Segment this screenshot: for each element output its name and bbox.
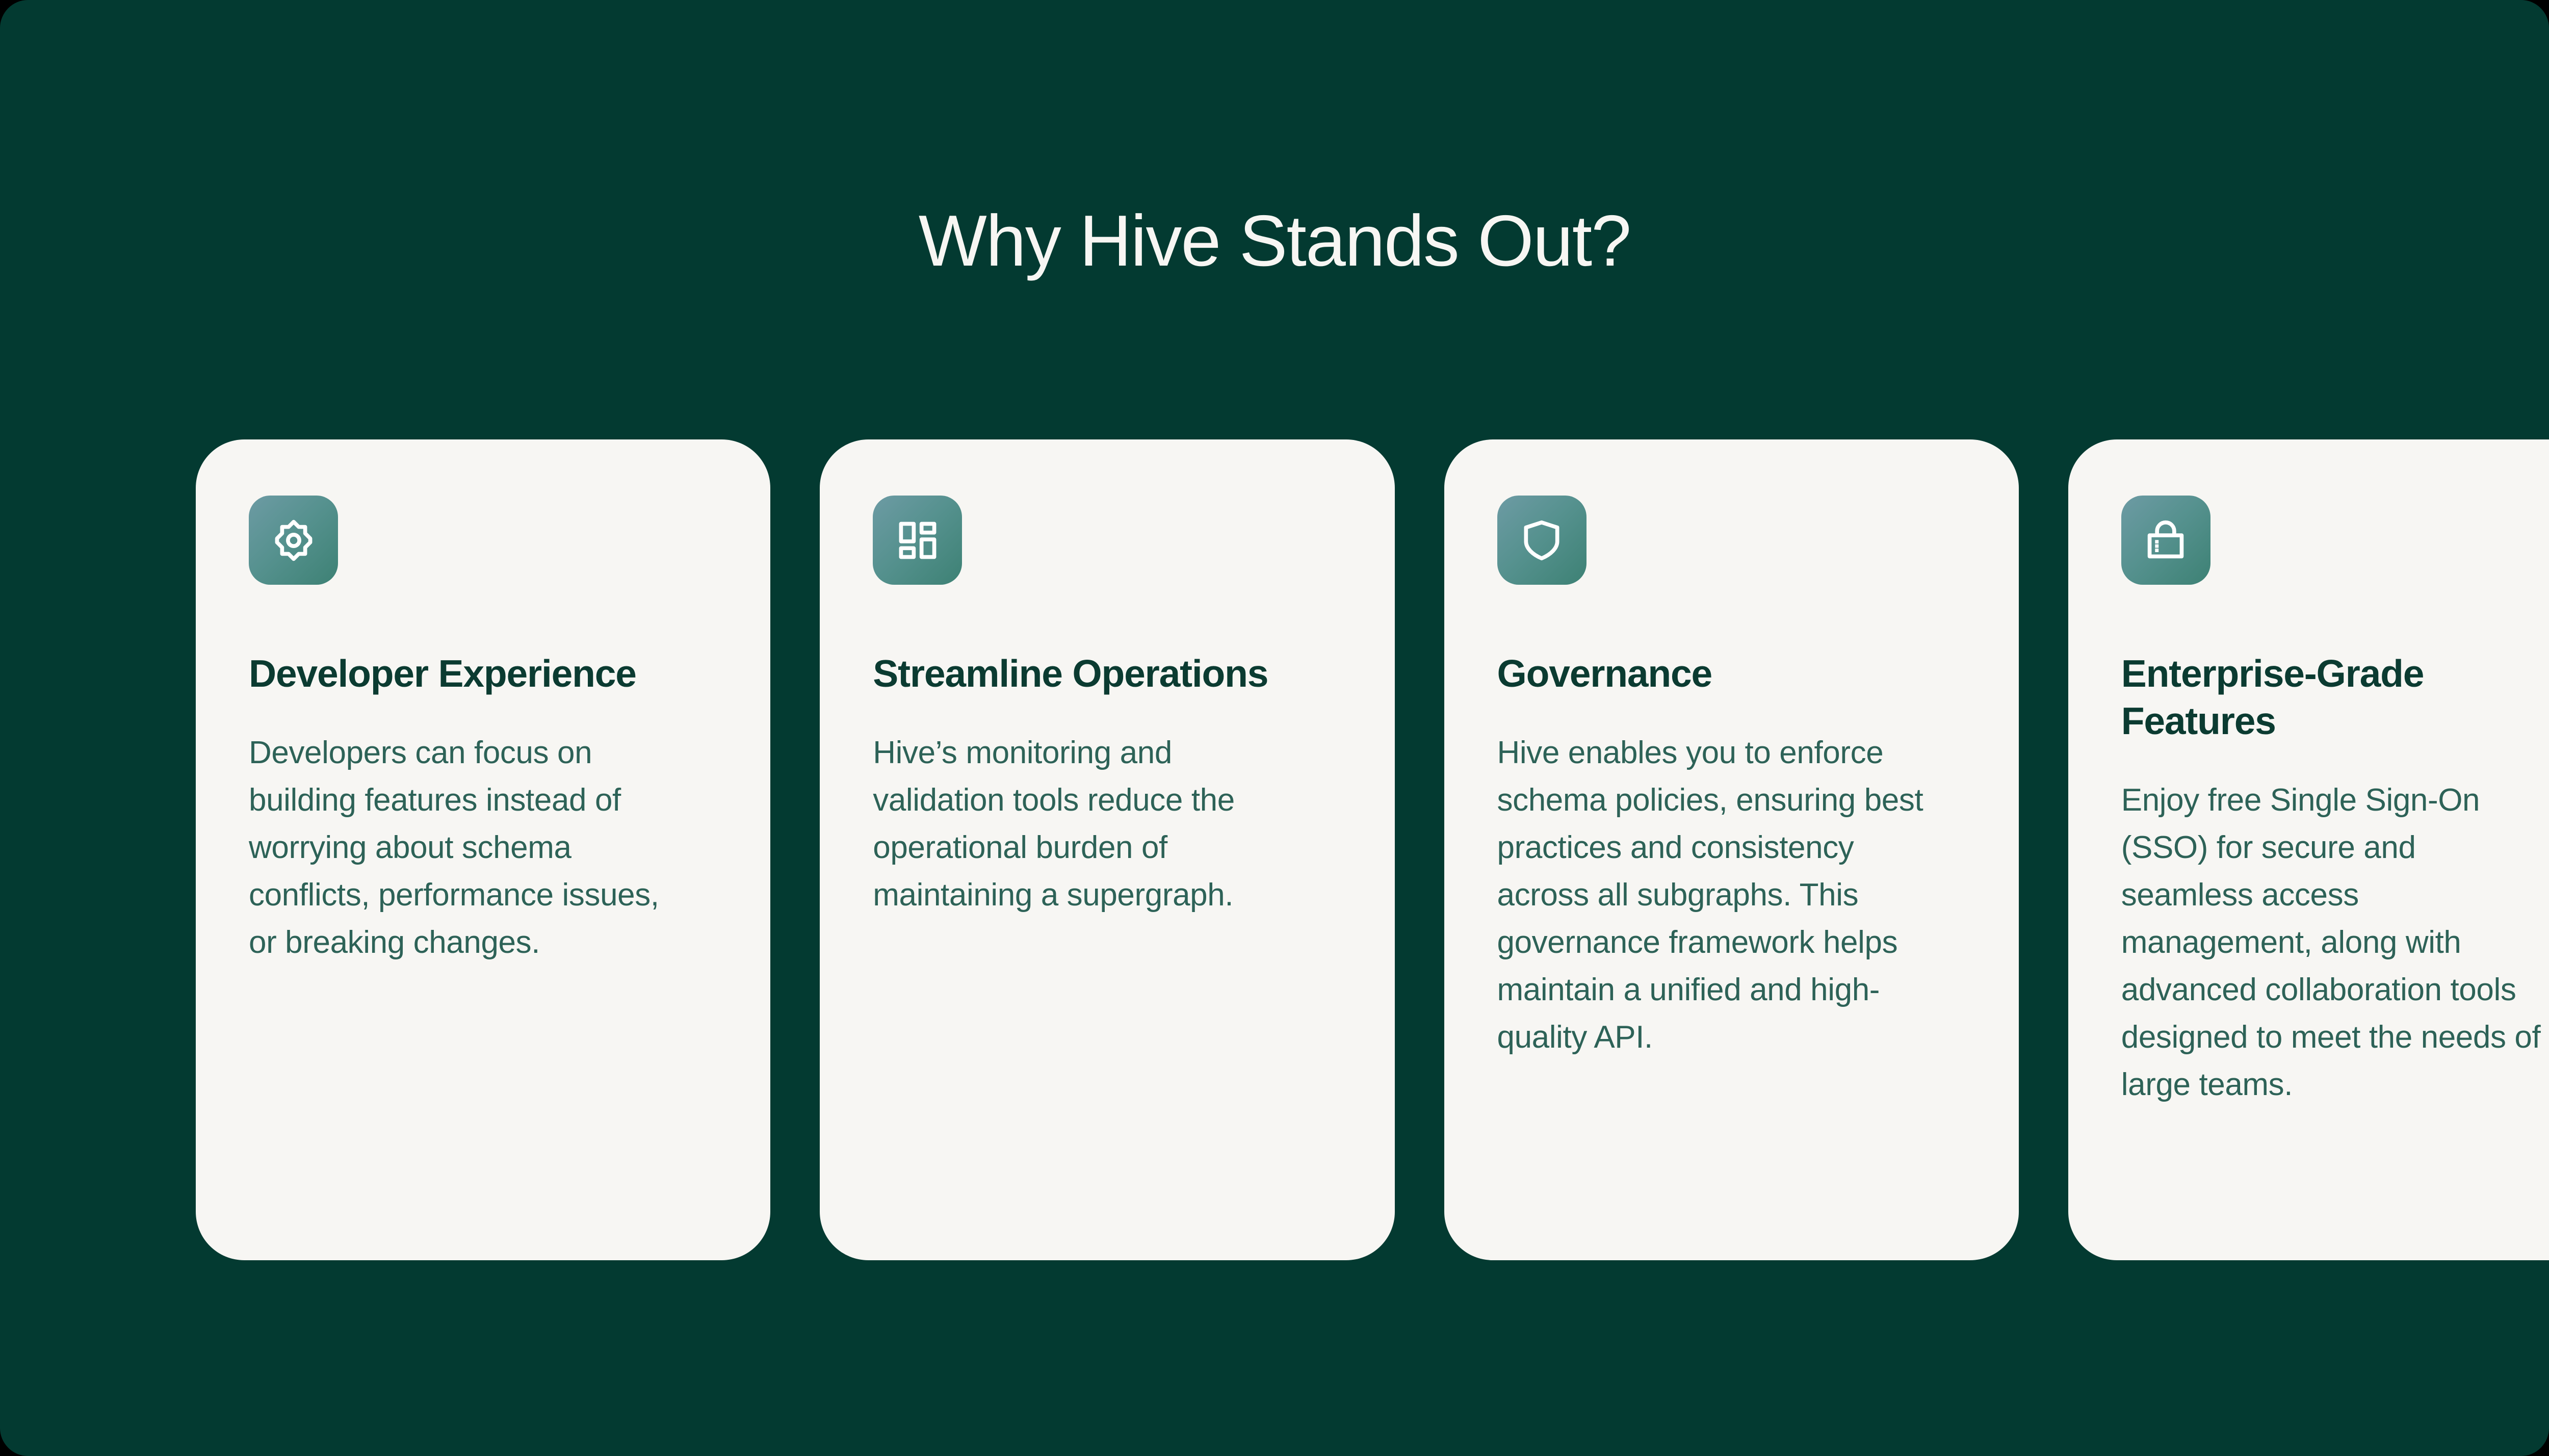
card-title: Enterprise-Grade Features: [2121, 650, 2525, 745]
lock-icon: [2121, 496, 2210, 585]
page-title: Why Hive Stands Out?: [0, 200, 2549, 281]
card-body: Hive enables you to enforce schema polic…: [1497, 729, 1929, 1061]
feature-card-streamline-operations[interactable]: Streamline Operations Hive’s monitoring …: [820, 439, 1394, 1260]
feature-card-developer-experience[interactable]: Developer Experience Developers can focu…: [196, 439, 770, 1260]
dashboard-grid-icon: [873, 496, 962, 585]
feature-card-governance[interactable]: Governance Hive enables you to enforce s…: [1444, 439, 2019, 1260]
card-title: Governance: [1497, 650, 1901, 697]
card-body: Developers can focus on building feature…: [249, 729, 680, 966]
feature-card-list: Developer Experience Developers can focu…: [196, 439, 2549, 1260]
feature-card-enterprise-grade-features[interactable]: Enterprise-Grade Features Enjoy free Sin…: [2068, 439, 2549, 1260]
card-body: Enjoy free Single Sign-On (SSO) for secu…: [2121, 776, 2549, 1108]
card-body: Hive’s monitoring and validation tools r…: [873, 729, 1304, 919]
gear-sun-icon: [249, 496, 338, 585]
card-title: Streamline Operations: [873, 650, 1276, 697]
feature-section: Why Hive Stands Out? Developer Experienc…: [0, 0, 2549, 1456]
shield-icon: [1497, 496, 1586, 585]
card-title: Developer Experience: [249, 650, 652, 697]
